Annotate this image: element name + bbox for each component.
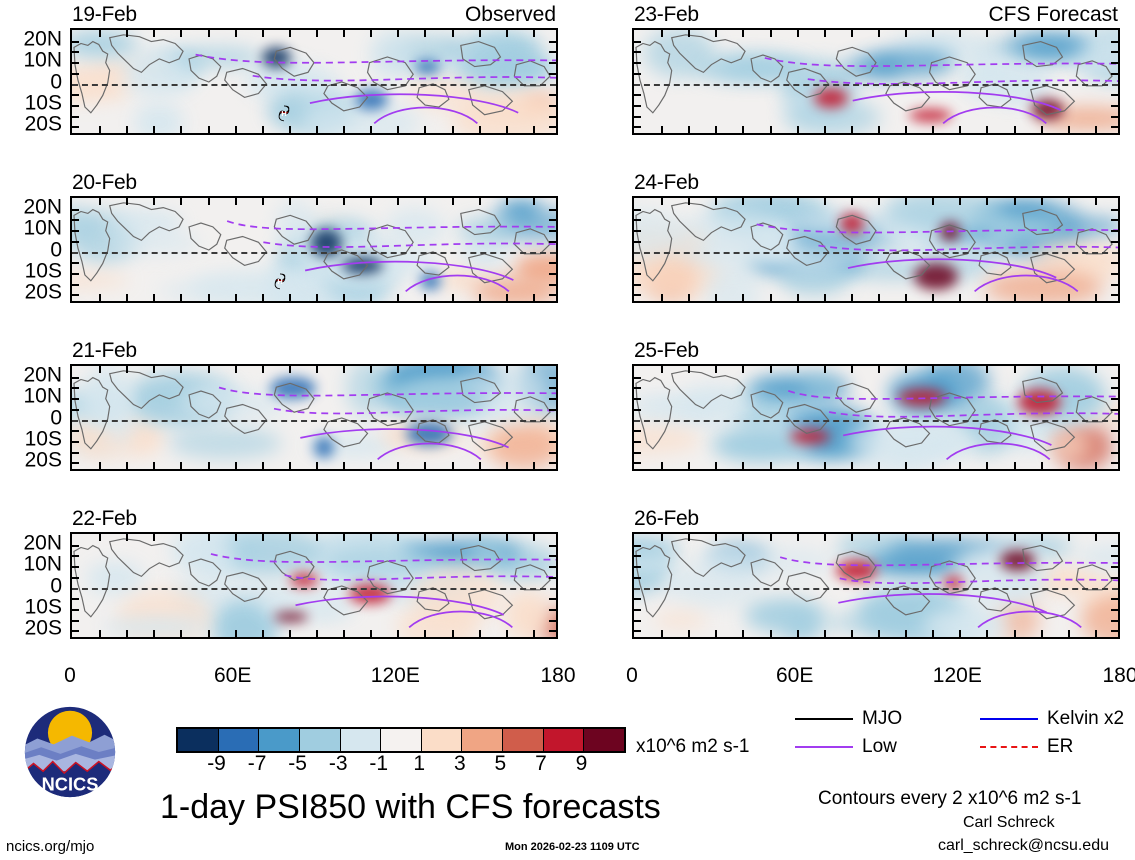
y-axis-tick-0: 0	[50, 407, 62, 428]
axis-tick-mark	[479, 366, 481, 373]
axis-tick-mark	[905, 534, 907, 541]
axis-tick-mark	[424, 126, 426, 133]
y-axis-tick-10S: 10S	[25, 92, 62, 113]
axis-tick-mark	[343, 534, 345, 541]
axis-tick-mark	[262, 534, 264, 541]
panel-date-label: 25-Feb	[634, 339, 699, 363]
axis-tick-mark	[1111, 566, 1118, 568]
axis-tick-mark	[634, 241, 641, 243]
axis-tick-mark	[72, 452, 79, 454]
axis-tick-mark	[634, 294, 641, 296]
axis-tick-mark	[370, 630, 372, 637]
axis-tick-mark	[533, 30, 535, 37]
axis-tick-mark	[126, 534, 128, 541]
axis-tick-mark	[797, 462, 799, 469]
axis-tick-mark	[289, 294, 291, 301]
axis-tick-mark	[180, 30, 182, 37]
axis-tick-mark	[370, 462, 372, 469]
axis-tick-mark	[289, 198, 291, 205]
panel-date-label: 20-Feb	[72, 171, 137, 195]
wave-contour-overlay	[634, 534, 1118, 637]
axis-tick-mark	[661, 534, 663, 541]
axis-tick-mark	[986, 630, 988, 637]
svg-text:H: H	[281, 110, 286, 119]
axis-tick-mark	[634, 73, 641, 75]
axis-tick-mark	[688, 294, 690, 301]
axis-tick-mark	[905, 366, 907, 373]
axis-tick-mark	[797, 126, 799, 133]
axis-tick-mark	[824, 198, 826, 205]
axis-tick-mark	[1014, 366, 1016, 373]
axis-tick-mark	[533, 534, 535, 541]
axis-tick-mark	[959, 462, 961, 469]
axis-tick-mark	[742, 126, 744, 133]
axis-tick-mark	[479, 126, 481, 133]
colorbar-swatch	[218, 729, 259, 751]
axis-tick-mark	[932, 294, 934, 301]
colorbar-swatch	[178, 729, 218, 751]
axis-tick-mark	[72, 577, 79, 579]
map-canvas	[632, 532, 1120, 639]
axis-tick-mark	[549, 116, 556, 118]
axis-tick-mark	[72, 126, 79, 128]
axis-tick-mark	[208, 30, 210, 37]
axis-tick-mark	[1111, 73, 1118, 75]
axis-tick-mark	[986, 534, 988, 541]
axis-tick-mark	[688, 630, 690, 637]
axis-tick-mark	[878, 294, 880, 301]
axis-tick-mark	[479, 30, 481, 37]
axis-tick-mark	[343, 198, 345, 205]
axis-tick-mark	[549, 262, 556, 264]
axis-tick-mark	[824, 30, 826, 37]
axis-tick-mark	[634, 452, 641, 454]
axis-tick-mark	[634, 41, 641, 43]
y-axis-tick-0: 0	[50, 575, 62, 596]
map-panel-19-feb[interactable]: 19-FebObservedH	[70, 28, 558, 135]
axis-tick-mark	[153, 366, 155, 373]
axis-tick-mark	[549, 284, 556, 286]
axis-tick-mark	[1041, 366, 1043, 373]
axis-tick-mark	[316, 198, 318, 205]
axis-tick-mark	[1111, 209, 1118, 211]
axis-tick-mark	[634, 219, 641, 221]
axis-tick-mark	[959, 294, 961, 301]
axis-tick-mark	[506, 126, 508, 133]
axis-tick-mark	[634, 409, 641, 411]
panel-date-label: 23-Feb	[634, 3, 699, 27]
axis-tick-mark	[180, 294, 182, 301]
axis-tick-mark	[549, 273, 556, 275]
colorbar-tick-1: 1	[413, 752, 425, 776]
colorbar-swatch	[380, 729, 421, 751]
axis-tick-mark	[99, 630, 101, 637]
axis-tick-mark	[343, 462, 345, 469]
axis-tick-mark	[549, 105, 556, 107]
axis-tick-mark	[986, 366, 988, 373]
axis-tick-mark	[1111, 630, 1118, 632]
axis-tick-mark	[549, 452, 556, 454]
map-panel-21-feb[interactable]: 21-Feb	[70, 364, 558, 471]
axis-tick-mark	[905, 462, 907, 469]
axis-tick-mark	[180, 534, 182, 541]
axis-tick-mark	[1014, 630, 1016, 637]
x-axis-tick-0: 0	[64, 664, 76, 688]
axis-tick-mark	[742, 462, 744, 469]
axis-tick-mark	[126, 198, 128, 205]
axis-tick-mark	[1111, 598, 1118, 600]
axis-tick-mark	[72, 284, 79, 286]
axis-tick-mark	[72, 62, 79, 64]
equator-line	[634, 588, 1118, 590]
axis-tick-mark	[661, 366, 663, 373]
axis-tick-mark	[905, 630, 907, 637]
axis-tick-mark	[1111, 398, 1118, 400]
axis-tick-mark	[1095, 294, 1097, 301]
y-axis-tick-0: 0	[50, 71, 62, 92]
axis-tick-mark	[715, 294, 717, 301]
axis-tick-mark	[549, 294, 556, 296]
axis-tick-mark	[797, 198, 799, 205]
axis-tick-mark	[452, 366, 454, 373]
axis-tick-mark	[932, 630, 934, 637]
axis-tick-mark	[533, 126, 535, 133]
tropical-cyclone-marker: H	[278, 105, 291, 121]
axis-tick-mark	[262, 294, 264, 301]
axis-tick-mark	[661, 294, 663, 301]
ncics-logo: NCICS	[22, 704, 118, 800]
axis-tick-mark	[715, 366, 717, 373]
axis-tick-mark	[1041, 30, 1043, 37]
axis-tick-mark	[634, 609, 641, 611]
axis-tick-mark	[797, 630, 799, 637]
y-axis-tick-10N: 10N	[23, 554, 62, 575]
axis-tick-mark	[549, 620, 556, 622]
axis-tick-mark	[72, 409, 79, 411]
axis-tick-mark	[549, 219, 556, 221]
axis-tick-mark	[770, 30, 772, 37]
axis-tick-mark	[316, 30, 318, 37]
axis-tick-mark	[126, 462, 128, 469]
axis-tick-mark	[661, 30, 663, 37]
axis-tick-mark	[479, 294, 481, 301]
y-axis-tick-20N: 20N	[23, 28, 62, 49]
map-panel-20-feb[interactable]: 20-FebH	[70, 196, 558, 303]
x-axis-tick-60E: 60E	[214, 664, 251, 688]
axis-tick-mark	[661, 462, 663, 469]
axis-tick-mark	[1095, 30, 1097, 37]
colorbar-tick-3: 3	[454, 752, 466, 776]
axis-tick-mark	[661, 126, 663, 133]
x-axis-tick-180: 180	[1102, 664, 1135, 688]
axis-tick-mark	[72, 219, 79, 221]
axis-tick-mark	[533, 294, 535, 301]
colorbar-tick-5: 5	[495, 752, 507, 776]
axis-tick-mark	[932, 126, 934, 133]
axis-tick-mark	[742, 198, 744, 205]
legend-line-swatch	[980, 746, 1038, 748]
axis-tick-mark	[397, 198, 399, 205]
axis-tick-mark	[1014, 30, 1016, 37]
colorbar-swatch	[461, 729, 502, 751]
colorbar-tick--3: -3	[329, 752, 348, 776]
axis-tick-mark	[126, 126, 128, 133]
axis-tick-mark	[452, 630, 454, 637]
y-axis-tick-10N: 10N	[23, 386, 62, 407]
logo-text: NCICS	[42, 773, 99, 794]
axis-tick-mark	[1095, 630, 1097, 637]
axis-tick-mark	[770, 294, 772, 301]
column-header-forecast: CFS Forecast	[988, 3, 1118, 27]
axis-tick-mark	[549, 598, 556, 600]
axis-tick-mark	[1014, 198, 1016, 205]
axis-tick-mark	[343, 126, 345, 133]
x-axis-tick-0: 0	[626, 664, 638, 688]
axis-tick-mark	[316, 534, 318, 541]
colorbar-swatch	[258, 729, 299, 751]
axis-tick-mark	[72, 620, 79, 622]
axis-tick-mark	[289, 126, 291, 133]
axis-tick-mark	[153, 30, 155, 37]
axis-tick-mark	[289, 366, 291, 373]
axis-tick-mark	[99, 366, 101, 373]
axis-tick-mark	[289, 30, 291, 37]
axis-tick-mark	[634, 630, 641, 632]
site-url[interactable]: ncics.org/mjo	[6, 838, 94, 855]
svg-text:H: H	[277, 278, 282, 287]
axis-tick-mark	[99, 534, 101, 541]
axis-tick-mark	[1068, 294, 1070, 301]
axis-tick-mark	[1111, 51, 1118, 53]
axis-tick-mark	[549, 545, 556, 547]
y-axis-labels-row-0: 20N10N010S20S	[0, 28, 62, 135]
colorbar-tick--5: -5	[288, 752, 307, 776]
axis-tick-mark	[343, 30, 345, 37]
axis-tick-mark	[452, 462, 454, 469]
axis-tick-mark	[262, 30, 264, 37]
axis-tick-mark	[1111, 105, 1118, 107]
axis-tick-mark	[316, 294, 318, 301]
axis-tick-mark	[932, 30, 934, 37]
axis-tick-mark	[1041, 198, 1043, 205]
axis-tick-mark	[452, 126, 454, 133]
axis-tick-mark	[397, 30, 399, 37]
axis-tick-mark	[1111, 41, 1118, 43]
axis-tick-mark	[1111, 219, 1118, 221]
axis-tick-mark	[533, 630, 535, 637]
axis-tick-mark	[1014, 126, 1016, 133]
axis-tick-mark	[316, 630, 318, 637]
axis-tick-mark	[153, 294, 155, 301]
legend-entry-kelvin-x2: Kelvin x2	[980, 708, 1124, 730]
axis-tick-mark	[797, 534, 799, 541]
axis-tick-mark	[824, 462, 826, 469]
map-panel-22-feb[interactable]: 22-Feb	[70, 532, 558, 639]
axis-tick-mark	[153, 534, 155, 541]
axis-tick-mark	[878, 630, 880, 637]
axis-tick-mark	[549, 566, 556, 568]
equator-line	[634, 84, 1118, 86]
axis-tick-mark	[1095, 462, 1097, 469]
map-panel-24-feb[interactable]: 24-Feb	[632, 196, 1120, 303]
axis-tick-mark	[742, 534, 744, 541]
axis-tick-mark	[986, 462, 988, 469]
axis-tick-mark	[99, 126, 101, 133]
equator-line	[72, 252, 556, 254]
axis-tick-mark	[959, 630, 961, 637]
axis-tick-mark	[770, 534, 772, 541]
axis-tick-mark	[506, 366, 508, 373]
axis-tick-mark	[235, 294, 237, 301]
colorbar-tick-7: 7	[535, 752, 547, 776]
axis-tick-mark	[208, 366, 210, 373]
axis-tick-mark	[824, 630, 826, 637]
equator-line	[72, 588, 556, 590]
axis-tick-mark	[715, 534, 717, 541]
map-canvas: H	[70, 196, 558, 303]
map-panel-23-feb[interactable]: 23-FebCFS Forecast	[632, 28, 1120, 135]
axis-tick-mark	[1111, 462, 1118, 464]
axis-tick-mark	[1111, 452, 1118, 454]
axis-tick-mark	[688, 534, 690, 541]
axis-tick-mark	[549, 41, 556, 43]
axis-tick-mark	[72, 273, 79, 275]
axis-tick-mark	[549, 462, 556, 464]
axis-tick-mark	[634, 62, 641, 64]
axis-tick-mark	[634, 430, 641, 432]
axis-tick-mark	[634, 598, 641, 600]
author-email[interactable]: carl_schreck@ncsu.edu	[938, 837, 1109, 855]
colorbar-swatch	[543, 729, 584, 751]
panel-date-label: 21-Feb	[72, 339, 137, 363]
axis-tick-mark	[824, 366, 826, 373]
axis-tick-mark	[72, 105, 79, 107]
axis-tick-mark	[634, 545, 641, 547]
axis-tick-mark	[397, 366, 399, 373]
axis-tick-mark	[72, 241, 79, 243]
axis-tick-mark	[634, 566, 641, 568]
axis-tick-mark	[549, 73, 556, 75]
axis-tick-mark	[180, 462, 182, 469]
colorbar-swatch	[299, 729, 340, 751]
axis-tick-mark	[316, 126, 318, 133]
y-axis-tick-10S: 10S	[25, 428, 62, 449]
axis-tick-mark	[235, 30, 237, 37]
axis-tick-mark	[549, 62, 556, 64]
axis-tick-mark	[986, 126, 988, 133]
axis-tick-mark	[424, 198, 426, 205]
colorbar-unit-label: x10^6 m2 s-1	[636, 736, 749, 758]
wave-contour-overlay	[72, 30, 556, 133]
axis-tick-mark	[688, 126, 690, 133]
axis-tick-mark	[851, 462, 853, 469]
axis-tick-mark	[905, 294, 907, 301]
axis-tick-mark	[905, 126, 907, 133]
axis-tick-mark	[1111, 94, 1118, 96]
axis-tick-mark	[72, 230, 79, 232]
axis-tick-mark	[208, 534, 210, 541]
axis-tick-mark	[770, 366, 772, 373]
axis-tick-mark	[533, 366, 535, 373]
axis-tick-mark	[688, 366, 690, 373]
axis-tick-mark	[126, 294, 128, 301]
axis-tick-mark	[549, 577, 556, 579]
axis-tick-mark	[452, 294, 454, 301]
figure-title: 1-day PSI850 with CFS forecasts	[160, 788, 661, 827]
axis-tick-mark	[72, 294, 79, 296]
axis-tick-mark	[1068, 126, 1070, 133]
axis-tick-mark	[549, 409, 556, 411]
axis-tick-mark	[506, 294, 508, 301]
axis-tick-mark	[72, 609, 79, 611]
axis-tick-mark	[289, 462, 291, 469]
wave-contour-overlay	[634, 366, 1118, 469]
axis-tick-mark	[533, 462, 535, 469]
map-panel-26-feb[interactable]: 26-Feb	[632, 532, 1120, 639]
axis-tick-mark	[72, 51, 79, 53]
axis-tick-mark	[1111, 116, 1118, 118]
map-panel-25-feb[interactable]: 25-Feb	[632, 364, 1120, 471]
axis-tick-mark	[72, 41, 79, 43]
axis-tick-mark	[1095, 534, 1097, 541]
axis-tick-mark	[986, 294, 988, 301]
axis-tick-mark	[824, 126, 826, 133]
axis-tick-mark	[878, 30, 880, 37]
axis-tick-mark	[1068, 366, 1070, 373]
axis-tick-mark	[1111, 126, 1118, 128]
panel-date-label: 19-Feb	[72, 3, 137, 27]
axis-tick-mark	[549, 441, 556, 443]
axis-tick-mark	[316, 462, 318, 469]
axis-tick-mark	[72, 462, 79, 464]
axis-tick-mark	[424, 30, 426, 37]
axis-tick-mark	[634, 230, 641, 232]
y-axis-tick-20S: 20S	[25, 114, 62, 135]
author-name: Carl Schreck	[963, 814, 1055, 832]
map-canvas	[632, 28, 1120, 135]
axis-tick-mark	[549, 630, 556, 632]
axis-tick-mark	[72, 209, 79, 211]
axis-tick-mark	[126, 30, 128, 37]
axis-tick-mark	[72, 94, 79, 96]
axis-tick-mark	[343, 294, 345, 301]
axis-tick-mark	[959, 126, 961, 133]
axis-tick-mark	[424, 534, 426, 541]
axis-tick-mark	[235, 462, 237, 469]
colorbar-tick--7: -7	[248, 752, 267, 776]
colorbar-tick--9: -9	[207, 752, 226, 776]
axis-tick-mark	[932, 198, 934, 205]
axis-tick-mark	[851, 534, 853, 541]
legend-entry-low: Low	[795, 736, 897, 758]
axis-tick-mark	[851, 198, 853, 205]
axis-tick-mark	[634, 116, 641, 118]
axis-tick-mark	[1041, 630, 1043, 637]
wave-contour-overlay	[72, 366, 556, 469]
axis-tick-mark	[153, 198, 155, 205]
axis-tick-mark	[506, 630, 508, 637]
axis-tick-mark	[370, 534, 372, 541]
axis-tick-mark	[1111, 62, 1118, 64]
axis-tick-mark	[208, 294, 210, 301]
axis-tick-mark	[549, 398, 556, 400]
axis-tick-mark	[986, 198, 988, 205]
axis-tick-mark	[424, 294, 426, 301]
axis-tick-mark	[235, 366, 237, 373]
y-axis-tick-20N: 20N	[23, 364, 62, 385]
axis-tick-mark	[634, 209, 641, 211]
legend-line-swatch	[795, 718, 853, 720]
